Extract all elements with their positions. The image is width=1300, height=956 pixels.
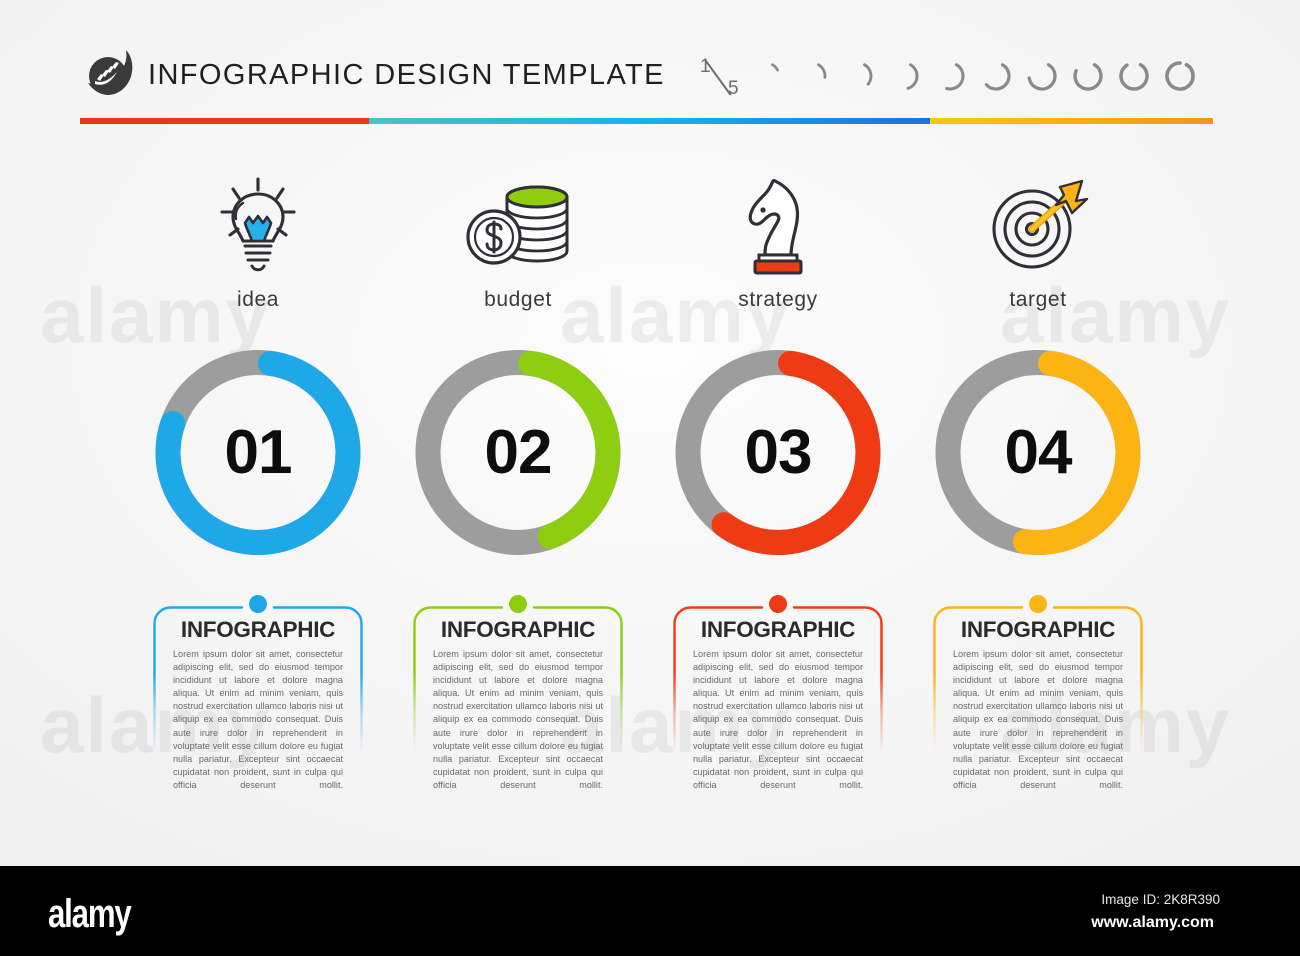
progress-arc-8 [1075, 65, 1101, 89]
info-card-04[interactable]: INFOGRAPHIC Lorem ipsum dolor sit amet, … [931, 604, 1145, 809]
footer-bar: alamy Image ID: 2K8R390 www.alamy.com [0, 866, 1300, 956]
column-label-idea: idea [128, 288, 388, 312]
progress-arc-9 [1121, 65, 1147, 89]
leaf-swoosh-logo-icon [82, 48, 138, 100]
progress-arc-7 [1029, 65, 1055, 89]
donut-04[interactable]: 04 [908, 345, 1168, 560]
progress-arc-6 [986, 65, 1009, 89]
card-body: Lorem ipsum dolor sit amet, consectetur … [693, 648, 863, 805]
card-title: INFOGRAPHIC [671, 617, 885, 643]
rule-segment-teal-cyan [369, 118, 650, 124]
rule-segment-red [80, 118, 369, 124]
progress-arc-2 [819, 65, 826, 78]
card-title: INFOGRAPHIC [411, 617, 625, 643]
info-card-02[interactable]: INFOGRAPHIC Lorem ipsum dolor sit amet, … [411, 604, 625, 809]
card-body: Lorem ipsum dolor sit amet, consectetur … [433, 648, 603, 805]
column-strategy: strategy [648, 170, 908, 312]
info-card-01[interactable]: INFOGRAPHIC Lorem ipsum dolor sit amet, … [151, 604, 365, 809]
card-connector-dot [1029, 595, 1047, 613]
image-id-label: Image ID: 2K8R390 [1101, 892, 1220, 907]
card-connector-dot [769, 595, 787, 613]
donut-01[interactable]: 01 [128, 345, 388, 560]
target-arrow-icon [908, 170, 1168, 280]
card-title: INFOGRAPHIC [931, 617, 1145, 643]
progress-arc-1 [773, 65, 778, 70]
progress-arc-sequence-icon [756, 48, 1216, 104]
alamy-logo: alamy [48, 892, 131, 937]
page-title: INFOGRAPHIC DESIGN TEMPLATE [148, 59, 665, 92]
coin-stack-icon [388, 170, 648, 280]
progress-arc-5 [947, 65, 963, 89]
lightbulb-icon [128, 170, 388, 280]
column-target: target [908, 170, 1168, 312]
rule-segment-cyan-blue [650, 118, 930, 124]
card-connector-dot [509, 595, 527, 613]
donut-number-03: 03 [648, 345, 908, 560]
chess-knight-icon [648, 170, 908, 280]
column-budget: budget [388, 170, 648, 312]
header: INFOGRAPHIC DESIGN TEMPLATE 1 5 [0, 0, 1300, 130]
footer-url[interactable]: www.alamy.com [1091, 914, 1214, 932]
info-card-03[interactable]: INFOGRAPHIC Lorem ipsum dolor sit amet, … [671, 604, 885, 809]
progress-arc-3 [865, 65, 872, 84]
card-connector-dot [249, 595, 267, 613]
rule-segment-yellow-orange [930, 118, 1213, 124]
slide-counter: 1 5 [698, 56, 758, 104]
donut-03[interactable]: 03 [648, 345, 908, 560]
card-body: Lorem ipsum dolor sit amet, consectetur … [953, 648, 1123, 805]
infographic-page: alamy alamy alamy alamy alamy alamy INFO… [0, 0, 1300, 956]
card-body: Lorem ipsum dolor sit amet, consectetur … [173, 648, 343, 805]
progress-arc-10 [1167, 63, 1193, 89]
donut-02[interactable]: 02 [388, 345, 648, 560]
slide-counter-denominator: 5 [728, 78, 739, 100]
progress-arc-4 [908, 65, 917, 89]
column-label-strategy: strategy [648, 288, 908, 312]
column-idea: idea [128, 170, 388, 312]
card-title: INFOGRAPHIC [151, 617, 365, 643]
donut-number-04: 04 [908, 345, 1168, 560]
column-label-budget: budget [388, 288, 648, 312]
donut-number-02: 02 [388, 345, 648, 560]
donut-number-01: 01 [128, 345, 388, 560]
header-color-rule [80, 118, 1213, 124]
column-label-target: target [908, 288, 1168, 312]
